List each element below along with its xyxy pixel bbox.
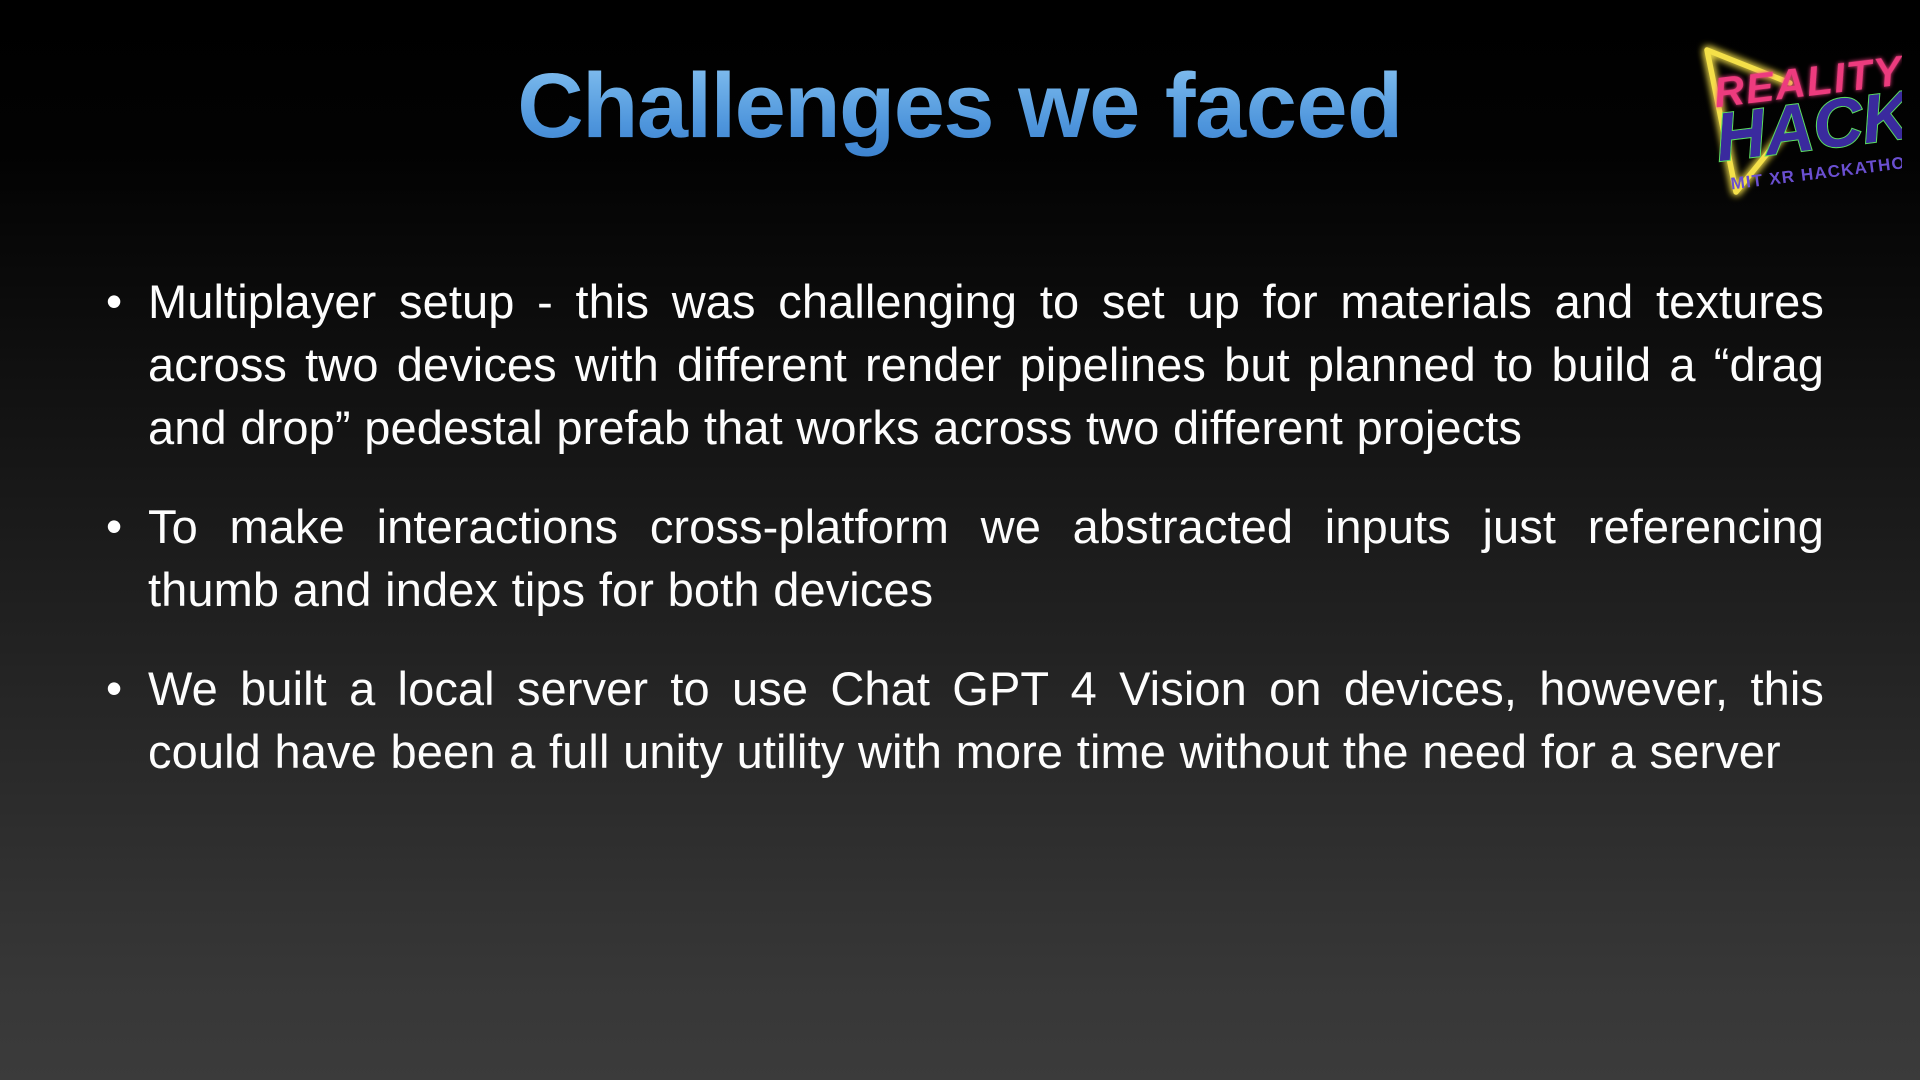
page-title-strong: Challenges xyxy=(517,55,993,157)
bullet-text-1: Multiplayer setup - this was challenging… xyxy=(148,270,1824,459)
list-item: • Multiplayer setup - this was challengi… xyxy=(96,270,1824,459)
list-item: • To make interactions cross-platform we… xyxy=(96,495,1824,621)
bullet-marker-icon: • xyxy=(96,270,148,333)
reality-hack-logo: REALITY HACK HACK MIT XR HACKATHON xyxy=(1672,16,1902,212)
page-title: Challenges we faced xyxy=(0,58,1920,156)
list-item: • We built a local server to use Chat GP… xyxy=(96,657,1824,783)
bullet-marker-icon: • xyxy=(96,657,148,720)
bullet-text-3: We built a local server to use Chat GPT … xyxy=(148,657,1824,783)
bullet-marker-icon: • xyxy=(96,495,148,558)
page-title-light: we faced xyxy=(993,55,1403,157)
bullet-text-2: To make interactions cross-platform we a… xyxy=(148,495,1824,621)
bullet-list: • Multiplayer setup - this was challengi… xyxy=(96,270,1824,783)
